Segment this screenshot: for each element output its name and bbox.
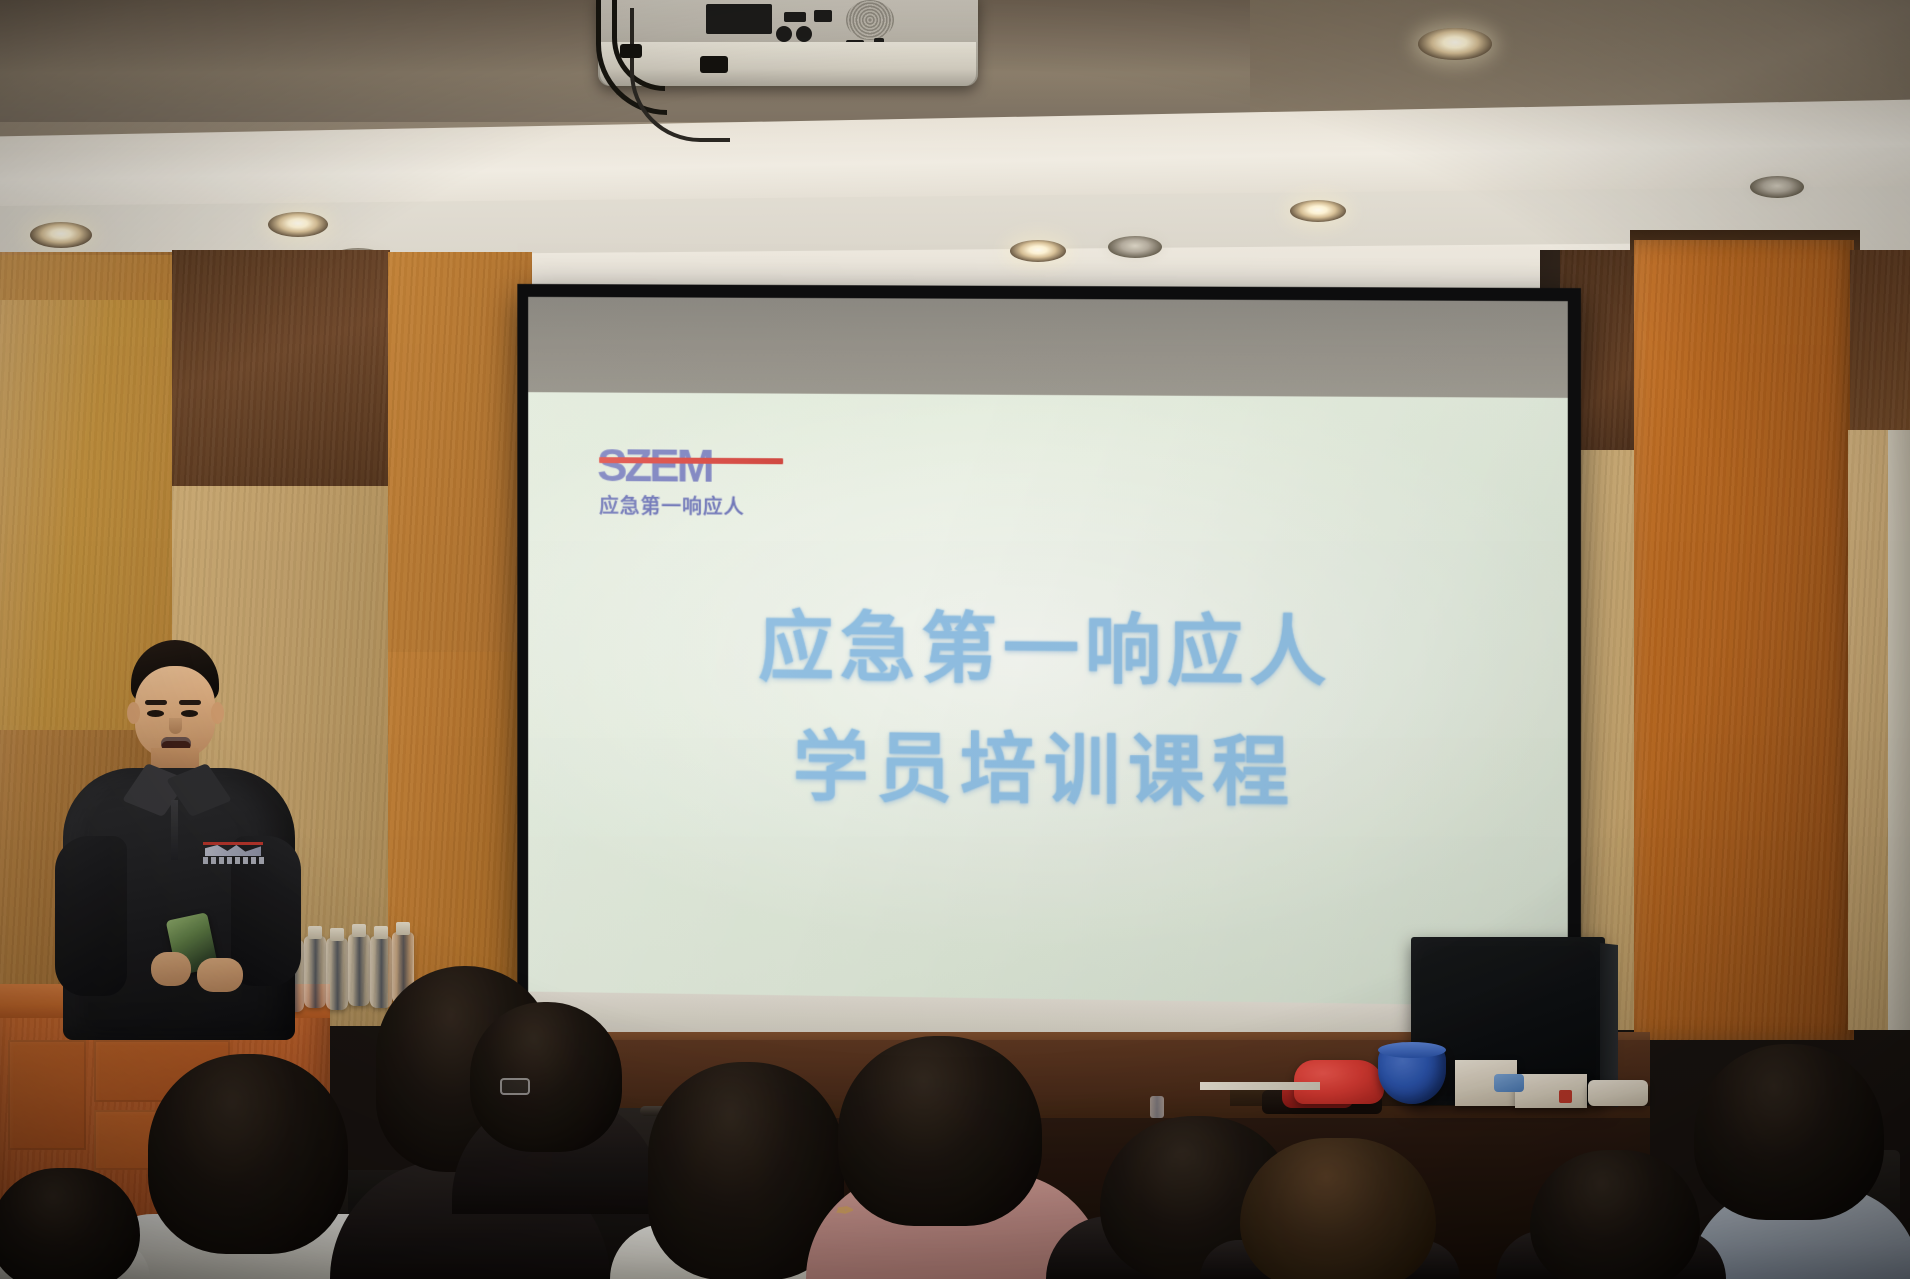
slide-title-line-2: 学员培训课程 — [528, 706, 1568, 838]
slide-logo-accent-bar — [599, 457, 783, 464]
presenter — [55, 640, 305, 1040]
ceiling-downlight-icon — [268, 212, 328, 237]
chest-logo-bar — [203, 842, 263, 845]
audience-hair — [1694, 1044, 1884, 1220]
chest-logo-wordmark-icon — [205, 845, 261, 856]
audience-head — [148, 1054, 348, 1254]
wall-pillar-center-left-upper — [388, 252, 532, 652]
presenter-chest-logo — [203, 836, 265, 866]
bottle-cap — [330, 928, 344, 941]
audience-hair — [470, 1002, 622, 1152]
water-bottle — [304, 936, 326, 1008]
white-box — [1588, 1080, 1648, 1106]
slide-logo: SZEM 应急第一响应人 — [597, 438, 785, 519]
bottle-cap — [308, 926, 322, 939]
presenter-eye — [147, 710, 164, 717]
presenter-nose — [169, 718, 182, 734]
ceiling-downlight-icon — [1108, 236, 1162, 258]
audience-head — [1530, 1150, 1700, 1279]
presenter-ear — [211, 702, 224, 724]
presenter-arm-left — [55, 836, 127, 996]
wall-edge-far-right — [1888, 430, 1910, 1030]
projector-port — [796, 26, 812, 42]
bottle-cap — [374, 926, 388, 939]
audience-hair — [0, 1168, 140, 1279]
presenter-ear — [127, 702, 140, 724]
projector-port — [784, 12, 806, 22]
photo-scene: SZEM 应急第一响应人 应急第一响应人 学员培训课程 — [0, 0, 1910, 1279]
presenter-eye — [181, 710, 198, 717]
audience-hair — [1240, 1138, 1436, 1279]
presenter-shirt-placket — [171, 800, 178, 860]
audience-head — [838, 1036, 1042, 1226]
audience-head — [0, 1168, 140, 1279]
presenter-hand — [197, 958, 243, 992]
blue-bowl-rim — [1378, 1042, 1446, 1058]
water-bottle — [326, 938, 348, 1010]
white-box — [1515, 1074, 1587, 1108]
ceiling-downlight-icon — [30, 222, 92, 248]
wall-pillar-right — [1634, 240, 1854, 1040]
bottle-cap — [396, 922, 410, 935]
slide-title-line-1: 应急第一响应人 — [528, 587, 1568, 717]
presenter-eyebrow — [179, 700, 201, 705]
blue-item — [1494, 1074, 1524, 1092]
bottle-cap — [352, 924, 366, 937]
cable-ferrite — [700, 56, 728, 73]
ceiling-downlight-icon — [1010, 240, 1066, 262]
small-bottle — [1150, 1096, 1164, 1118]
projector-port — [776, 26, 792, 42]
projector-port — [814, 10, 832, 22]
audience-head — [470, 1002, 622, 1152]
ceiling-downlight-icon — [1290, 200, 1346, 222]
wall-panel-dark-upper — [172, 250, 390, 488]
chest-logo-subtitle-icon — [203, 857, 265, 864]
slide-logo-wordmark: SZEM — [597, 440, 785, 493]
cable-ferrite — [620, 44, 642, 58]
podium-panel — [8, 1040, 86, 1150]
projector-vent-icon — [846, 0, 894, 40]
audience-hair — [838, 1036, 1042, 1226]
presenter-hand — [151, 952, 191, 986]
projection-screen-surface: SZEM 应急第一响应人 应急第一响应人 学员培训课程 — [528, 297, 1568, 1049]
eyeglasses-icon — [500, 1078, 530, 1095]
slide-logo-subtitle: 应急第一响应人 — [599, 490, 787, 520]
water-bottle — [348, 934, 370, 1006]
ceiling-downlight-icon — [1750, 176, 1804, 198]
audience-head — [1694, 1044, 1884, 1220]
slide-title-block: 应急第一响应人 学员培训课程 — [528, 587, 1568, 838]
box-red-marking — [1559, 1090, 1572, 1103]
audience-hair — [1530, 1150, 1700, 1279]
ceiling-downlight-icon — [1418, 28, 1492, 60]
paper-strip — [1200, 1082, 1320, 1090]
presenter-eyebrow — [145, 700, 167, 705]
audience-head — [1240, 1138, 1436, 1279]
audience-hair — [148, 1054, 348, 1254]
projected-slide: SZEM 应急第一响应人 应急第一响应人 学员培训课程 — [528, 392, 1568, 1023]
